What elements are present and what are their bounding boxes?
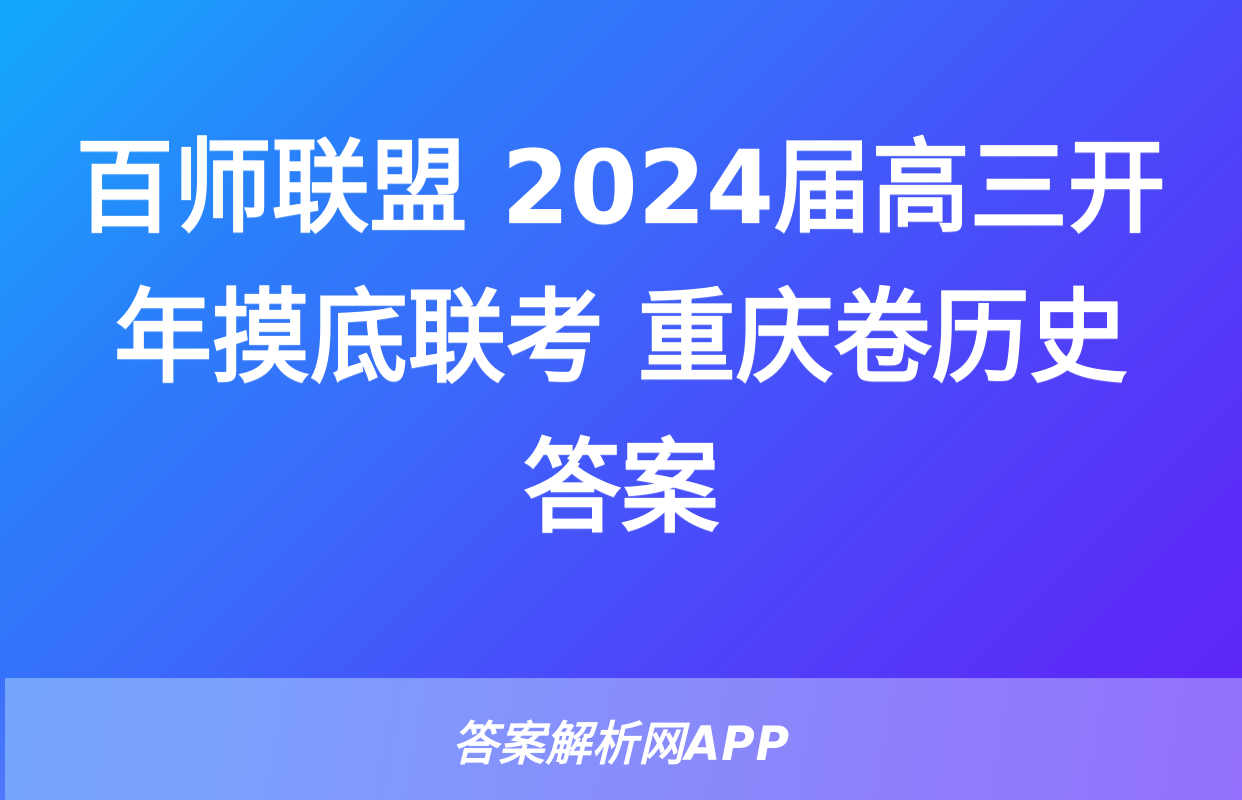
watermark: 答案解析网APP (0, 678, 1242, 800)
title-line-2: 年摸底联考 重庆卷历史 (114, 264, 1127, 414)
title-block: 百师联盟 2024届高三开 年摸底联考 重庆卷历史 答案 (0, 0, 1242, 678)
title-line-3: 答案 (523, 414, 719, 564)
title-line-1: 百师联盟 2024届高三开 (76, 114, 1166, 264)
poster-canvas: 百师联盟 2024届高三开 年摸底联考 重庆卷历史 答案 答案解析网APP (0, 0, 1242, 800)
watermark-label: 答案解析网APP (452, 705, 790, 774)
